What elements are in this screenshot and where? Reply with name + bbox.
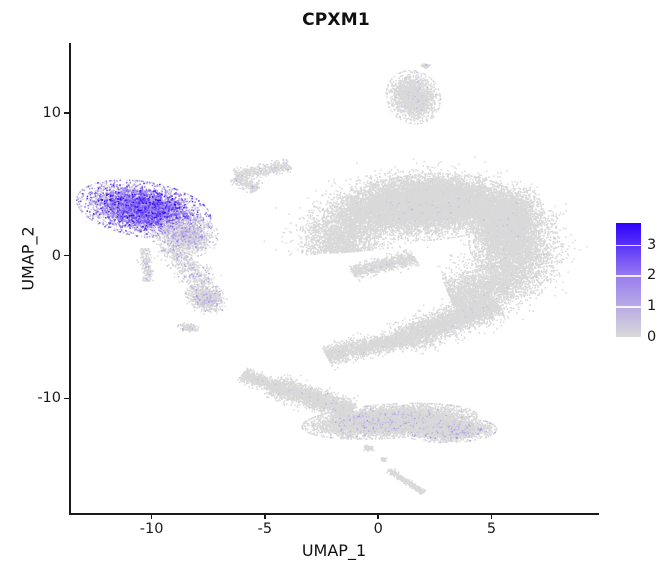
colorbar-tick-mark (616, 275, 641, 277)
colorbar-tick-label: 3 (647, 237, 656, 253)
x-tick-label: -5 (258, 521, 272, 537)
y-tick-mark (64, 112, 69, 113)
x-tick-mark (377, 514, 378, 519)
y-tick-label: -10 (37, 390, 61, 406)
x-tick-mark (491, 514, 492, 519)
umap-feature-plot: CPXM1 100-10 -10-505 UMAP_2 UMAP_1 0123 (0, 0, 672, 576)
x-tick-label: 5 (487, 521, 496, 537)
y-axis-label: UMAP_2 (19, 169, 38, 349)
colorbar-tick-label: 2 (647, 267, 656, 283)
x-axis-spine (69, 513, 599, 515)
x-axis-label: UMAP_1 (69, 541, 599, 560)
y-tick-label: 0 (52, 248, 61, 264)
colorbar-tick-label: 1 (647, 298, 656, 314)
y-tick-mark (64, 255, 69, 256)
y-axis-spine (69, 43, 71, 515)
colorbar-tick-mark (616, 337, 641, 339)
x-tick-mark (264, 514, 265, 519)
colorbar-gradient (616, 223, 641, 337)
colorbar-tick-mark (616, 306, 641, 308)
colorbar-tick-mark (616, 245, 641, 247)
y-tick-mark (64, 398, 69, 399)
x-tick-label: -10 (140, 521, 164, 537)
x-tick-label: 0 (374, 521, 383, 537)
x-tick-mark (151, 514, 152, 519)
page-title: CPXM1 (0, 10, 672, 30)
colorbar-tick-label: 0 (647, 329, 656, 345)
y-tick-label: 10 (43, 105, 61, 121)
scatter-plot-canvas[interactable] (70, 43, 598, 514)
